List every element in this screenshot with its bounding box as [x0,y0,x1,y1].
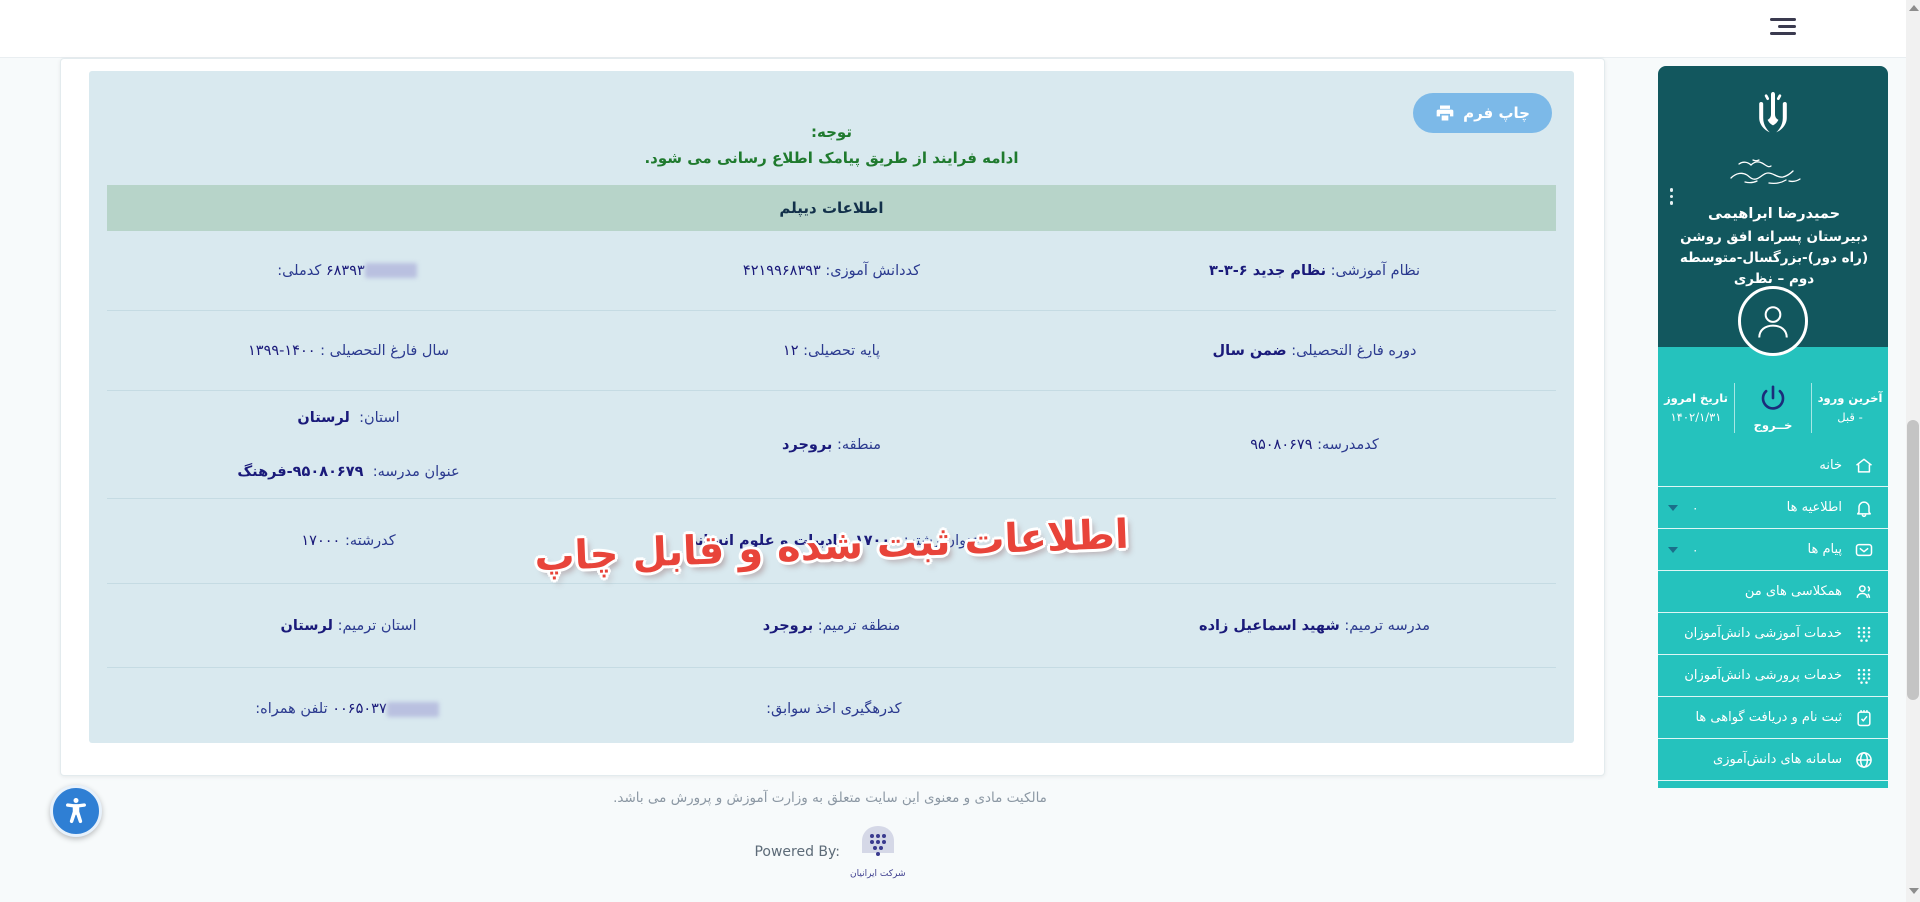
top-bar [0,0,1920,58]
sidebar-item-classmates[interactable]: همکلاسی های من [1658,571,1888,613]
kebab-dot [1670,201,1674,205]
field-label: عنوان رشته: [904,533,980,549]
sidebar-menu: خانه اطلاعیه ها ۰ پیام ها [1658,445,1888,781]
field-value: بروجرد [763,618,813,634]
notice-title: توجه: [89,119,1574,145]
field-label: استان: [359,410,400,426]
field-repair-school: مدرسه ترمیم: شهید اسماعیل زاده [1073,584,1556,667]
table-row: کدمدرسه: ۹۵۰۸۰۶۷۹ منطقه: بروجرد استان: ل… [107,391,1556,499]
field-value: شهید اسماعیل زاده [1199,618,1340,634]
section-title: اطلاعات دیپلم [779,199,883,217]
field-value: نظام جدید ۶-۳-۳ [1209,263,1326,279]
field-value: لرستان [280,618,332,634]
iran-emblem-icon [1658,84,1888,152]
kebab-dot [1670,188,1674,192]
globe-icon [1852,748,1876,772]
field-value: ۱۲ [783,343,799,359]
sidebar-item-label: خانه [1668,458,1842,473]
today-value: ۱۴۰۲/۱/۳۱ [1658,408,1734,427]
chevron-down-icon[interactable] [1668,547,1678,553]
powered-by-label: Powered By: [754,844,840,860]
today-date-block: تاریخ امروز ۱۴۰۲/۱/۳۱ [1658,389,1734,427]
divider [1811,383,1812,433]
user-avatar-icon [1751,299,1795,343]
sidebar-item-label: پیام ها [1708,542,1842,557]
field-student-code: کددانش آموزی: ۴۲۱۹۹۶۸۳۹۳ [590,231,1073,310]
field-label: عنوان مدرسه: [373,464,460,480]
sidebar-item-cultural-services[interactable]: خدمات پرورشی دانش‌آموزان [1658,655,1888,697]
field-label: پایه تحصیلی: [803,343,880,359]
field-label: منطقه: [837,437,881,453]
field-value: بروجرد [782,437,832,453]
bell-icon [1852,496,1876,520]
field-label: منطقه ترمیم: [818,618,900,634]
sidebar-item-label: سامانه های دانش‌آموزی [1668,752,1842,767]
accessibility-button[interactable] [50,785,102,837]
field-label: دوره فارغ التحصیلی: [1291,343,1416,359]
sidebar-item-messages[interactable]: پیام ها ۰ [1658,529,1888,571]
hamburger-line [1778,25,1796,28]
field-label: نظام آموزشی: [1331,263,1420,279]
table-row: دوره فارغ التحصیلی: ضمن سال پایه تحصیلی:… [107,311,1556,391]
today-title: تاریخ امروز [1658,389,1734,408]
logout-label: خــروج [1754,418,1793,432]
sidebar-item-count: ۰ [1692,543,1698,557]
scroll-up-arrow-icon[interactable] [1909,5,1919,11]
main-content-card: چاپ فرم توجه: ادامه فرایند از طریق پیامک… [60,58,1605,776]
sidebar: حمیدرضا ابراهیمی دبیرستان پسرانه افق روش… [1658,58,1906,902]
sidebar-item-home[interactable]: خانه [1658,445,1888,487]
ministry-name-logo [1658,154,1888,192]
scrollbar-thumb[interactable] [1907,420,1919,700]
field-edu-system: نظام آموزشی: نظام جدید ۶-۳-۳ [1073,231,1556,310]
field-district: منطقه: بروجرد [590,391,1073,498]
sidebar-item-label: خدمات آموزشی دانش‌آموزان [1668,626,1842,641]
diploma-info-panel: چاپ فرم توجه: ادامه فرایند از طریق پیامک… [89,71,1574,743]
accessibility-icon [61,796,91,826]
field-grad-year: سال فارغ التحصیلی : ۱۳۹۹-۱۴۰۰ [107,311,590,390]
sidebar-item-announcements[interactable]: اطلاعیه ها ۰ [1658,487,1888,529]
notice-text: ادامه فرایند از طریق پیامک اطلاع رسانی م… [89,145,1574,171]
scroll-down-arrow-icon[interactable] [1909,888,1919,894]
sidebar-user-info: حمیدرضا ابراهیمی دبیرستان پسرانه افق روش… [1674,204,1874,290]
hamburger-line [1770,32,1796,35]
field-value: ۱۷۰۰۰ [301,533,340,549]
sidebar-item-student-systems[interactable]: سامانه های دانش‌آموزی [1658,739,1888,781]
redaction-mask [387,702,439,717]
field-label: کدمدرسه: [1317,437,1379,453]
field-label: کدرهگیری اخذ سوابق: [766,701,901,717]
field-grade: پایه تحصیلی: ۱۲ [590,311,1073,390]
field-value: ضمن سال [1213,343,1287,359]
field-label: کددانش آموزی: [825,263,920,279]
field-label: کدملی: [277,263,321,279]
field-empty-left [1073,499,1556,583]
grid-dots-icon [1852,664,1876,688]
user-school: دبیرستان پسرانه افق روشن (راه دور)-بزرگس… [1680,229,1868,287]
field-national-code: ۶۸۳۹۳ کدملی: [107,231,590,310]
envelope-icon [1852,538,1876,562]
field-tracking-code: کدرهگیری اخذ سوابق: [590,668,1073,750]
table-row: کدرهگیری اخذ سوابق: ۰۰۶۵۰۳۷ تلفن همراه: [107,668,1556,750]
sidebar-item-label: ثبت نام و دریافت گواهی ها [1668,710,1842,725]
last-login-title: آخرین ورود [1812,389,1888,408]
field-school-name: عنوان مدرسه: ۹۵۰۸۰۶۷۹-فرهنگ [237,464,459,480]
last-login-value: - قبل [1812,408,1888,427]
field-label: کدرشته: [345,533,396,549]
table-row: عنوان رشته: ۱۷۰۰۰ – ادبیات و علوم انسانی… [107,499,1556,584]
field-province: استان: لرستان [297,410,399,426]
company-logo[interactable]: شرکت ایرانیان [850,824,906,879]
field-value: ۱۷۰۰۰ – ادبیات و علوم انسانی [683,533,899,549]
field-field-code: کدرشته: ۱۷۰۰۰ [107,499,590,583]
sidebar-item-count: ۰ [1692,501,1698,515]
field-field-name: عنوان رشته: ۱۷۰۰۰ – ادبیات و علوم انسانی [590,499,1073,583]
footer-copyright: مالکیت مادی و معنوی این سایت متعلق به وز… [0,790,1660,806]
hamburger-icon[interactable] [1770,18,1796,36]
field-value: ۱۳۹۹-۱۴۰۰ [248,343,316,359]
avatar[interactable] [1738,286,1808,356]
field-value: لرستان [297,410,349,426]
kebab-dot [1670,195,1674,199]
field-label: استان ترمیم: [338,618,417,634]
field-value: ۰۰۶۵۰۳۷ [332,701,387,717]
field-label: تلفن همراه: [255,701,327,717]
field-school-code: کدمدرسه: ۹۵۰۸۰۶۷۹ [1073,391,1556,498]
sidebar-item-label: همکلاسی های من [1668,584,1842,599]
field-province-and-school: استان: لرستان عنوان مدرسه: ۹۵۰۸۰۶۷۹-فرهن… [107,391,590,498]
field-label: سال فارغ التحصیلی : [320,343,449,359]
users-icon [1852,580,1876,604]
company-name: شرکت ایرانیان [850,869,906,879]
clipboard-check-icon [1852,706,1876,730]
field-repair-district: منطقه ترمیم: بروجرد [590,584,1073,667]
field-mobile: ۰۰۶۵۰۳۷ تلفن همراه: [107,668,590,750]
redaction-mask [365,263,417,278]
notice-block: توجه: ادامه فرایند از طریق پیامک اطلاع ر… [89,119,1574,171]
sidebar-item-label: خدمات پرورشی دانش‌آموزان [1668,668,1842,683]
fields-grid: نظام آموزشی: نظام جدید ۶-۳-۳ کددانش آموز… [107,231,1556,750]
field-value: ۴۲۱۹۹۶۸۳۹۳ [743,263,821,279]
sidebar-options-kebab-icon[interactable] [1669,188,1673,208]
field-empty-left-2 [1073,668,1556,750]
sidebar-body: آخرین ورود - قبل خــروج تاریخ امروز ۱۴۰۲… [1658,347,1888,788]
field-label: مدرسه ترمیم: [1344,618,1430,634]
sidebar-item-certificates[interactable]: ثبت نام و دریافت گواهی ها [1658,697,1888,739]
sidebar-item-educational-services[interactable]: خدمات آموزشی دانش‌آموزان [1658,613,1888,655]
sidebar-item-label: اطلاعیه ها [1708,500,1842,515]
footer: مالکیت مادی و معنوی این سایت متعلق به وز… [0,790,1660,879]
table-row: نظام آموزشی: نظام جدید ۶-۳-۳ کددانش آموز… [107,231,1556,311]
hamburger-line [1770,18,1796,21]
user-name: حمیدرضا ابراهیمی [1674,204,1874,225]
chevron-down-icon[interactable] [1668,505,1678,511]
sidebar-status-row: آخرین ورود - قبل خــروج تاریخ امروز ۱۴۰۲… [1658,375,1888,441]
logout-button[interactable]: خــروج [1735,383,1811,433]
divider [1734,383,1735,433]
section-header: اطلاعات دیپلم [107,185,1556,231]
field-value: ۹۵۰۸۰۶۷۹ [1250,437,1312,453]
field-value: ۶۸۳۹۳ [326,263,365,279]
table-row: مدرسه ترمیم: شهید اسماعیل زاده منطقه ترم… [107,584,1556,668]
power-icon [1758,383,1788,413]
grid-dots-icon [1852,622,1876,646]
home-icon [1852,454,1876,478]
field-value: ۹۵۰۸۰۶۷۹-فرهنگ [237,464,363,480]
company-logo-icon [856,824,900,864]
last-login-block: آخرین ورود - قبل [1812,389,1888,427]
field-repair-province: استان ترمیم: لرستان [107,584,590,667]
field-grad-period: دوره فارغ التحصیلی: ضمن سال [1073,311,1556,390]
powered-by-block: Powered By: شرکت ایرانیان [0,824,1660,879]
